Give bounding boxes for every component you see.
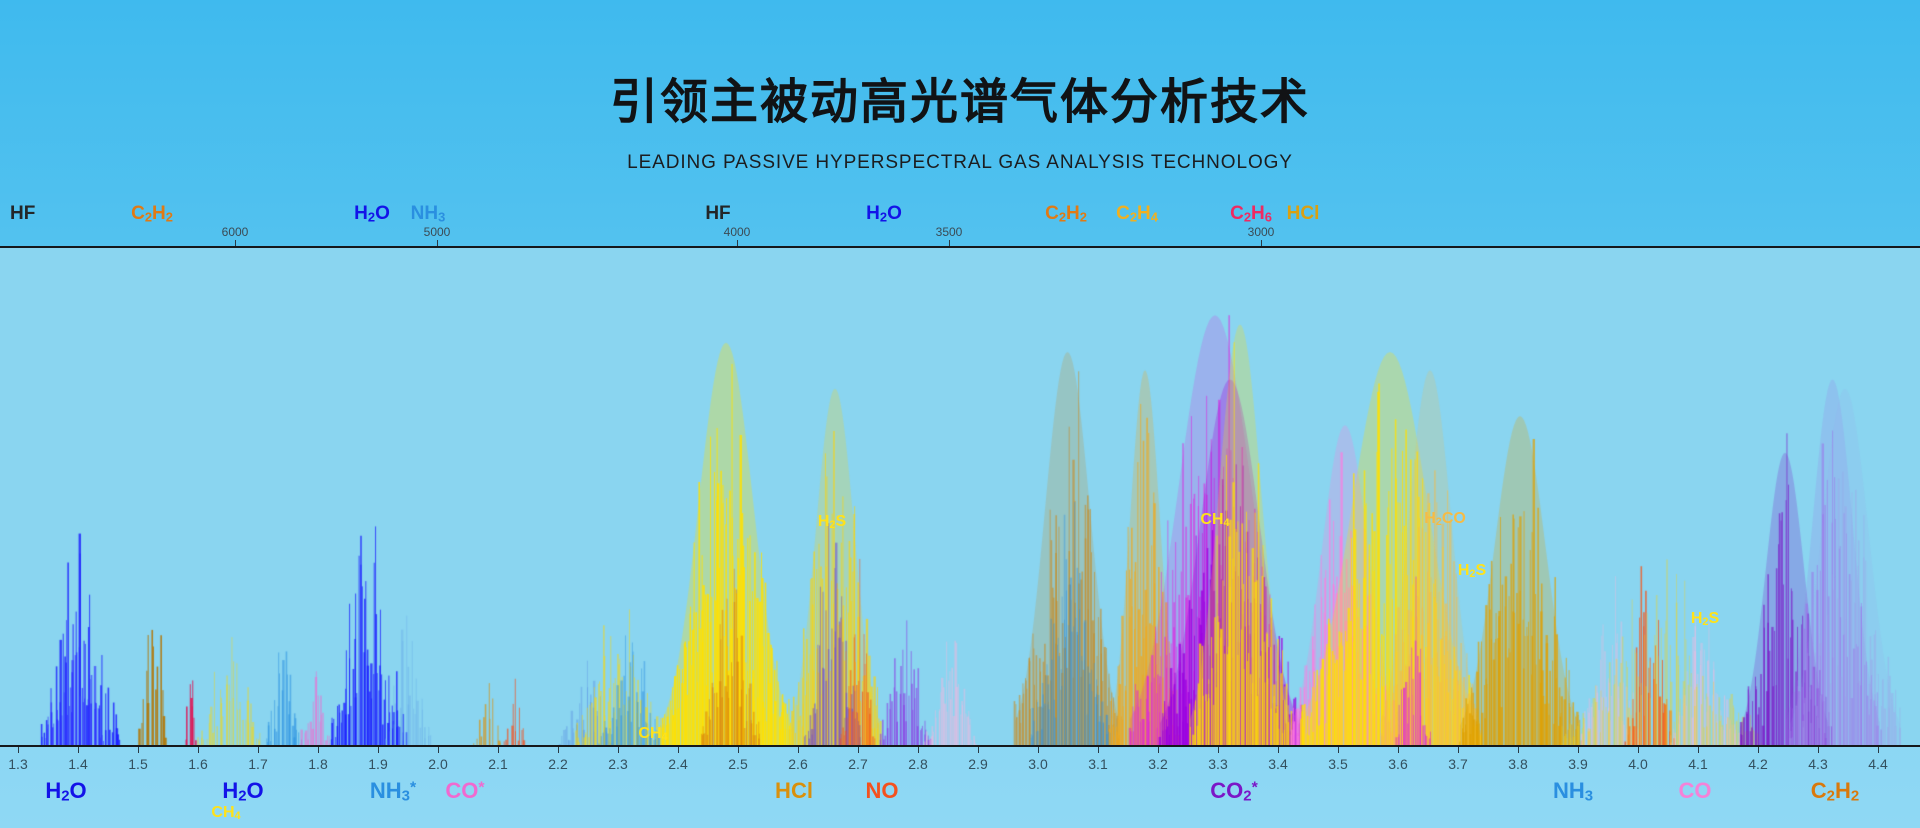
tick-label-bottom: 3.6 <box>1388 756 1407 772</box>
tick-label-bottom: 4.1 <box>1688 756 1707 772</box>
species-label-hf: HF <box>10 204 35 223</box>
tick-label-bottom: 4.3 <box>1808 756 1827 772</box>
tick-label-bottom: 3.3 <box>1208 756 1227 772</box>
species-label-nh3: NH3 <box>411 204 446 224</box>
species-label-no: NO <box>866 780 899 802</box>
species-label-nh3: NH3 <box>1553 780 1593 805</box>
species-label-h2s: H2S <box>1691 611 1719 628</box>
tick-mark-bottom <box>1518 747 1519 753</box>
tick-mark-bottom <box>18 747 19 753</box>
species-label-c2h2: C2H2 <box>1811 780 1859 805</box>
tick-mark-bottom <box>78 747 79 753</box>
tick-mark-bottom <box>1218 747 1219 753</box>
tick-label-bottom: 1.3 <box>8 756 27 772</box>
species-label-c2h2: C2H2 <box>1045 204 1087 224</box>
tick-label-bottom: 2.9 <box>968 756 987 772</box>
tick-mark-bottom <box>138 747 139 753</box>
tick-mark-bottom <box>918 747 919 753</box>
tick-label-bottom: 2.3 <box>608 756 627 772</box>
tick-label-bottom: 3.7 <box>1448 756 1467 772</box>
tick-label-bottom: 3.8 <box>1508 756 1527 772</box>
spectrum-chart: H2SCH4CH4H2COH2SH2SCH4C2H4*C2H6*H2S*H2CO… <box>0 248 1920 746</box>
species-label-cos: CO* <box>445 780 484 802</box>
tick-label-bottom: 3.9 <box>1568 756 1587 772</box>
species-label-h2o: H2O <box>354 204 390 224</box>
tick-mark-bottom <box>678 747 679 753</box>
tick-label-bottom: 3.0 <box>1028 756 1047 772</box>
tick-mark-bottom <box>1698 747 1699 753</box>
tick-mark-bottom <box>558 747 559 753</box>
tick-label-bottom: 4.0 <box>1628 756 1647 772</box>
tick-label-bottom: 2.1 <box>488 756 507 772</box>
tick-mark-bottom <box>1578 747 1579 753</box>
tick-label-top: 5000 <box>424 225 451 239</box>
tick-label-bottom: 1.6 <box>188 756 207 772</box>
tick-mark-bottom <box>1758 747 1759 753</box>
tick-label-bottom: 2.7 <box>848 756 867 772</box>
tick-label-bottom: 3.1 <box>1088 756 1107 772</box>
tick-mark-bottom <box>438 747 439 753</box>
tick-label-bottom: 1.8 <box>308 756 327 772</box>
tick-label-bottom: 1.5 <box>128 756 147 772</box>
species-label-h2o: H2O <box>45 780 86 805</box>
tick-label-bottom: 3.4 <box>1268 756 1287 772</box>
tick-label-bottom: 3.2 <box>1148 756 1167 772</box>
tick-label-bottom: 2.6 <box>788 756 807 772</box>
tick-label-bottom: 2.5 <box>728 756 747 772</box>
species-label-hcl: HCl <box>775 780 813 802</box>
tick-mark-bottom <box>1398 747 1399 753</box>
tick-label-bottom: 4.2 <box>1748 756 1767 772</box>
species-label-h2co: H2CO <box>1424 511 1466 528</box>
species-label-ch4: CH4 <box>638 726 667 743</box>
tick-label-bottom: 1.7 <box>248 756 267 772</box>
tick-mark-bottom <box>738 747 739 753</box>
tick-label-bottom: 2.8 <box>908 756 927 772</box>
tick-label-bottom: 1.4 <box>68 756 87 772</box>
species-label-ch4: CH4 <box>1200 512 1229 529</box>
species-label-h2s: H2S <box>818 514 846 531</box>
tick-mark-bottom <box>1098 747 1099 753</box>
species-label-c2h4: C2H4 <box>1116 204 1158 224</box>
tick-mark-bottom <box>1038 747 1039 753</box>
tick-mark-bottom <box>618 747 619 753</box>
tick-mark-bottom <box>1338 747 1339 753</box>
tick-mark-bottom <box>258 747 259 753</box>
tick-mark-bottom <box>198 747 199 753</box>
species-label-c2h2: C2H2 <box>131 204 173 224</box>
tick-mark-bottom <box>798 747 799 753</box>
species-label-h2o: H2O <box>866 204 902 224</box>
species-label-hf: HF <box>705 204 730 223</box>
species-label-c2h6: C2H6 <box>1230 204 1272 224</box>
tick-label-top: 3000 <box>1248 225 1275 239</box>
tick-label-bottom: 3.5 <box>1328 756 1347 772</box>
tick-mark-bottom <box>1638 747 1639 753</box>
page-subtitle: LEADING PASSIVE HYPERSPECTRAL GAS ANALYS… <box>0 152 1920 174</box>
species-label-ch4: CH4 <box>211 805 240 822</box>
species-label-h2s: H2S <box>1458 563 1486 580</box>
species-label-co: CO <box>1679 780 1712 802</box>
species-label-nh3s: NH3* <box>370 780 416 805</box>
page-title: 引领主被动高光谱气体分析技术 <box>0 62 1920 132</box>
tick-label-bottom: 1.9 <box>368 756 387 772</box>
species-label-h2o: H2O <box>222 780 263 805</box>
tick-label-bottom: 2.2 <box>548 756 567 772</box>
species-label-co2s: CO2* <box>1210 780 1258 805</box>
tick-mark-bottom <box>1278 747 1279 753</box>
tick-label-bottom: 2.4 <box>668 756 687 772</box>
poster-root: 引领主被动高光谱气体分析技术 LEADING PASSIVE HYPERSPEC… <box>0 0 1920 828</box>
axis-line-bottom <box>0 745 1920 747</box>
poster-header: 引领主被动高光谱气体分析技术 LEADING PASSIVE HYPERSPEC… <box>0 0 1920 200</box>
tick-mark-bottom <box>1458 747 1459 753</box>
species-label-hcl: HCl <box>1287 204 1320 223</box>
tick-label-top: 6000 <box>222 225 249 239</box>
tick-mark-bottom <box>1158 747 1159 753</box>
tick-mark-bottom <box>1818 747 1819 753</box>
tick-label-top: 4000 <box>724 225 751 239</box>
tick-label-bottom: 4.4 <box>1868 756 1887 772</box>
tick-mark-bottom <box>378 747 379 753</box>
tick-label-top: 3500 <box>936 225 963 239</box>
tick-mark-bottom <box>858 747 859 753</box>
tick-mark-bottom <box>1878 747 1879 753</box>
tick-mark-bottom <box>498 747 499 753</box>
tick-mark-bottom <box>978 747 979 753</box>
tick-label-bottom: 2.0 <box>428 756 447 772</box>
tick-mark-bottom <box>318 747 319 753</box>
spectral-lines-canvas <box>0 248 1920 746</box>
